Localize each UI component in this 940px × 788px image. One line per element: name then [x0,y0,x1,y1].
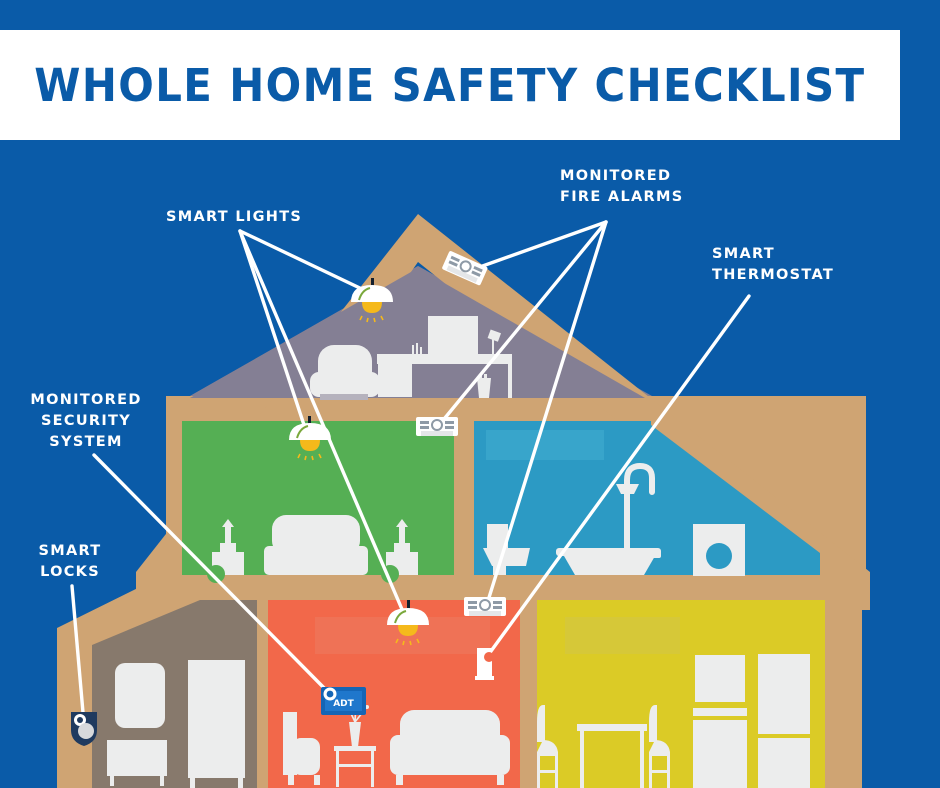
sofa [390,710,510,785]
washing-machine [693,524,745,576]
bed [264,515,368,575]
callout-label-smart-locks: SMART LOCKS [26,541,114,583]
kitchen-wall-panel [565,617,680,654]
fire-alarm-living-icon[interactable] [464,597,506,616]
title-bar: WHOLE HOME SAFETY CHECKLIST [0,30,900,140]
smart-thermostat-icon[interactable] [475,648,494,680]
callout-label-monitored-security-system: MONITORED SECURITY SYSTEM [22,390,150,453]
garage-counter-leg1 [110,776,114,786]
fire-alarm-bedroom-icon[interactable] [416,417,458,436]
security-panel-brand: ADT [333,699,354,709]
garage-cabinet-left [115,663,165,728]
page-title: WHOLE HOME SAFETY CHECKLIST [34,63,865,108]
armchair [310,345,380,400]
monitor [428,316,478,357]
callout-label-smart-thermostat: SMART THERMOSTAT [712,244,834,286]
callout-label-monitored-fire-alarms: MONITORED FIRE ALARMS [560,166,683,208]
garage-counter-leg2 [160,776,164,786]
refrigerator [758,654,810,788]
security-panel-icon[interactable]: ADT [321,687,366,715]
garage-cabinet-right-leg2 [238,778,243,788]
callout-label-smart-lights: SMART LIGHTS [166,207,302,228]
kitchen-cabinets [693,655,747,788]
garage-cabinet-right-leg1 [190,778,195,788]
garage-counter [107,740,167,776]
garage-cabinet-right [188,660,245,778]
